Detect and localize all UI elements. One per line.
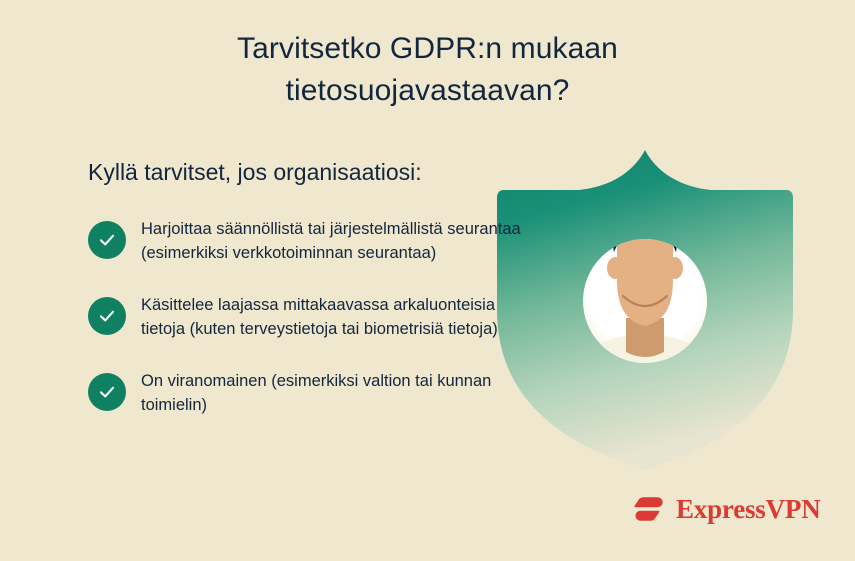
list-item: Harjoittaa säännöllistä tai järjestelmäl… xyxy=(88,215,536,265)
page-title: Tarvitsetko GDPR:n mukaan tietosuojavast… xyxy=(0,28,855,112)
list-item-label: Harjoittaa säännöllistä tai järjestelmäl… xyxy=(141,215,536,265)
check-icon xyxy=(88,221,126,259)
list-item: On viranomainen (esimerkiksi valtion tai… xyxy=(88,367,536,417)
expressvpn-e-mark-icon xyxy=(632,492,666,526)
check-icon xyxy=(88,297,126,335)
check-icon xyxy=(88,373,126,411)
content-column: Kyllä tarvitset, jos organisaatiosi: Har… xyxy=(88,157,536,417)
shield-icon xyxy=(497,140,797,480)
title-line-1: Tarvitsetko GDPR:n mukaan xyxy=(0,28,855,70)
list-item-label: On viranomainen (esimerkiksi valtion tai… xyxy=(141,367,536,417)
section-subtitle: Kyllä tarvitset, jos organisaatiosi: xyxy=(88,157,536,187)
shield-illustration xyxy=(497,140,797,480)
list-item: Käsittelee laajassa mittakaavassa arkalu… xyxy=(88,291,536,341)
list-item-label: Käsittelee laajassa mittakaavassa arkalu… xyxy=(141,291,536,341)
criteria-list: Harjoittaa säännöllistä tai järjestelmäl… xyxy=(88,215,536,417)
expressvpn-wordmark: ExpressVPN xyxy=(676,494,821,524)
infographic-canvas: Tarvitsetko GDPR:n mukaan tietosuojavast… xyxy=(0,0,855,561)
title-line-2: tietosuojavastaavan? xyxy=(0,70,855,112)
expressvpn-logo: ExpressVPN xyxy=(632,492,821,526)
